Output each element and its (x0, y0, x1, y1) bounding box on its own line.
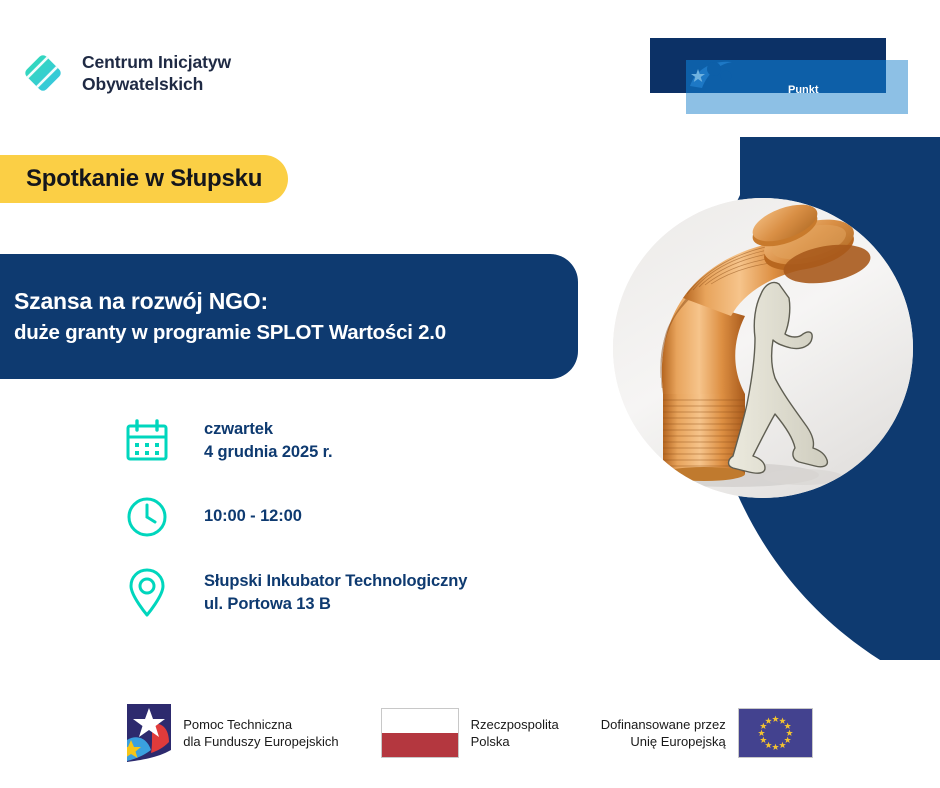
event-details: czwartek 4 grudnia 2025 r. 10:00 - 12:00… (120, 412, 467, 622)
european-union-flag-icon (738, 708, 813, 758)
event-title-line-2: duże granty w programie SPLOT Wartości 2… (14, 322, 548, 345)
cio-diamond-stripes-logo-icon (16, 46, 70, 100)
detail-text-date: czwartek 4 grudnia 2025 r. (204, 418, 333, 465)
pife-logo-text: Punkt Informacyjny Funduszy Europejskich (788, 83, 886, 93)
footer-poland-label: Rzeczpospolita Polska (471, 716, 559, 750)
detail-row-time: 10:00 - 12:00 (120, 488, 467, 546)
detail-text-time: 10:00 - 12:00 (204, 505, 302, 528)
calendar-icon (120, 419, 174, 463)
poland-flag-icon (381, 708, 459, 758)
footer-eu-label: Dofinansowane przez Unię Europejską (601, 716, 726, 750)
coins-photo (613, 198, 913, 498)
event-title-card: Szansa na rozwój NGO: duże granty w prog… (0, 254, 578, 379)
event-poster: Centrum Inicjatyw Obywatelskich Punkt In… (0, 0, 940, 788)
event-title-line-1: Szansa na rozwój NGO: (14, 289, 548, 314)
pife-mid-bar: Punkt Informacyjny Funduszy Europejskich (686, 60, 886, 93)
detail-row-location: Słupski Inkubator Technologiczny ul. Por… (120, 564, 467, 622)
cio-logo-text: Centrum Inicjatyw Obywatelskich (82, 51, 231, 96)
meeting-location-badge-label: Spotkanie w Słupsku (26, 167, 262, 191)
clock-icon (120, 495, 174, 539)
pife-logo: Punkt Informacyjny Funduszy Europejskich (650, 38, 908, 116)
location-pin-icon (120, 568, 174, 618)
pife-stars-logo-icon (686, 60, 742, 93)
detail-text-location: Słupski Inkubator Technologiczny ul. Por… (204, 570, 467, 617)
meeting-location-badge: Spotkanie w Słupsku (0, 155, 288, 203)
footer-funds-logo: Pomoc Techniczna dla Funduszy Europejski… (127, 704, 338, 762)
fundusze-europejskie-logo-icon (127, 704, 171, 762)
footer-eu-logo: Dofinansowane przez Unię Europejską (601, 708, 813, 758)
footer-funds-label: Pomoc Techniczna dla Funduszy Europejski… (183, 716, 338, 750)
cio-logo: Centrum Inicjatyw Obywatelskich (16, 46, 231, 100)
detail-row-date: czwartek 4 grudnia 2025 r. (120, 412, 467, 470)
footer-poland-logo: Rzeczpospolita Polska (381, 708, 559, 758)
footer-logo-strip: Pomoc Techniczna dla Funduszy Europejski… (0, 698, 940, 768)
